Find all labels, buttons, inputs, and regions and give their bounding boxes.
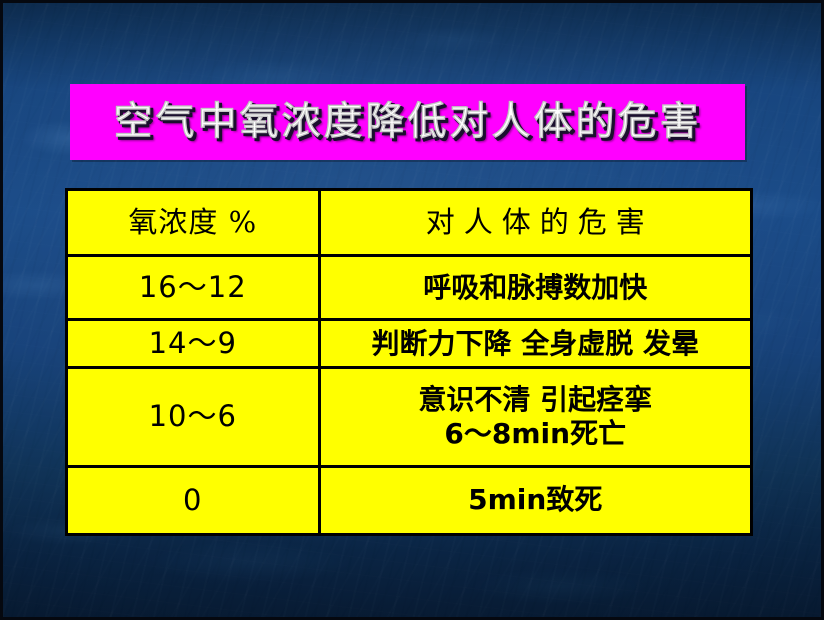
cell-harm-line: 5min致死 xyxy=(325,484,747,516)
cell-harm: 5min致死 xyxy=(319,466,750,533)
cell-harm: 判断力下降 全身虚脱 发晕 xyxy=(319,319,750,367)
cell-harm-line: 判断力下降 全身虚脱 发晕 xyxy=(325,328,747,360)
slide-canvas: 空气中氧浓度降低对人体的危害 氧浓度 % 对人体的危害 16～12 呼吸和脉搏数… xyxy=(0,0,824,620)
cell-concentration: 0 xyxy=(68,466,319,533)
slide-title: 空气中氧浓度降低对人体的危害 xyxy=(70,103,745,142)
table-row: 0 5min致死 xyxy=(68,466,750,533)
cell-concentration: 14～9 xyxy=(68,319,319,367)
cell-harm: 呼吸和脉搏数加快 xyxy=(319,256,750,320)
table-header-row: 氧浓度 % 对人体的危害 xyxy=(68,191,750,256)
cell-harm-line: 6～8min死亡 xyxy=(325,418,747,450)
harm-table-container: 氧浓度 % 对人体的危害 16～12 呼吸和脉搏数加快 14～9 判断力下降 全… xyxy=(65,188,753,536)
harm-table: 氧浓度 % 对人体的危害 16～12 呼吸和脉搏数加快 14～9 判断力下降 全… xyxy=(68,191,750,533)
cell-harm-line: 意识不清 引起痉挛 xyxy=(325,384,747,416)
table-row: 10～6 意识不清 引起痉挛 6～8min死亡 xyxy=(68,368,750,467)
cell-harm: 意识不清 引起痉挛 6～8min死亡 xyxy=(319,368,750,467)
cell-concentration: 10～6 xyxy=(68,368,319,467)
title-banner: 空气中氧浓度降低对人体的危害 xyxy=(70,84,745,160)
table-row: 14～9 判断力下降 全身虚脱 发晕 xyxy=(68,319,750,367)
header-cell-harm: 对人体的危害 xyxy=(319,191,750,256)
table-row: 16～12 呼吸和脉搏数加快 xyxy=(68,256,750,320)
cell-harm-line: 呼吸和脉搏数加快 xyxy=(325,272,747,304)
header-cell-concentration: 氧浓度 % xyxy=(68,191,319,256)
cell-concentration: 16～12 xyxy=(68,256,319,320)
